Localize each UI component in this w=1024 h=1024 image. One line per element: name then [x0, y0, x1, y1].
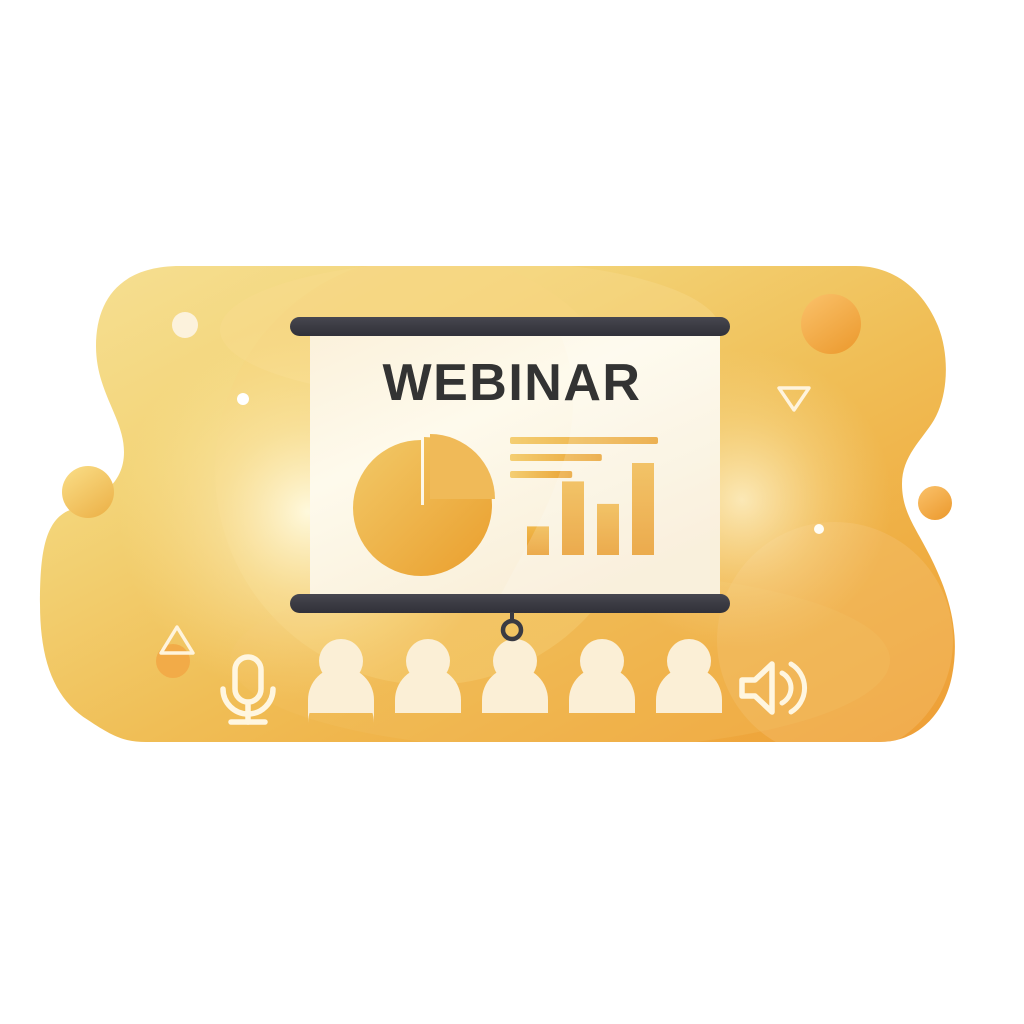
screen-top-bar	[290, 317, 730, 336]
dot-white-small-left	[237, 393, 249, 405]
illustration-stage: WEBINAR Webinar illustration badge	[0, 0, 1024, 1024]
orb-right-edge	[918, 486, 952, 520]
orb-left-edge	[62, 466, 114, 518]
dot-cream-top-left	[172, 312, 198, 338]
webinar-illustration: WEBINAR	[0, 0, 1024, 1024]
screen-bottom-bar	[290, 594, 730, 613]
orb-bottom-left	[156, 644, 190, 678]
dot-white-right	[814, 524, 824, 534]
projector-screen: WEBINAR	[290, 317, 730, 639]
screen-title: WEBINAR	[383, 354, 642, 412]
orb-top-right	[801, 294, 861, 354]
